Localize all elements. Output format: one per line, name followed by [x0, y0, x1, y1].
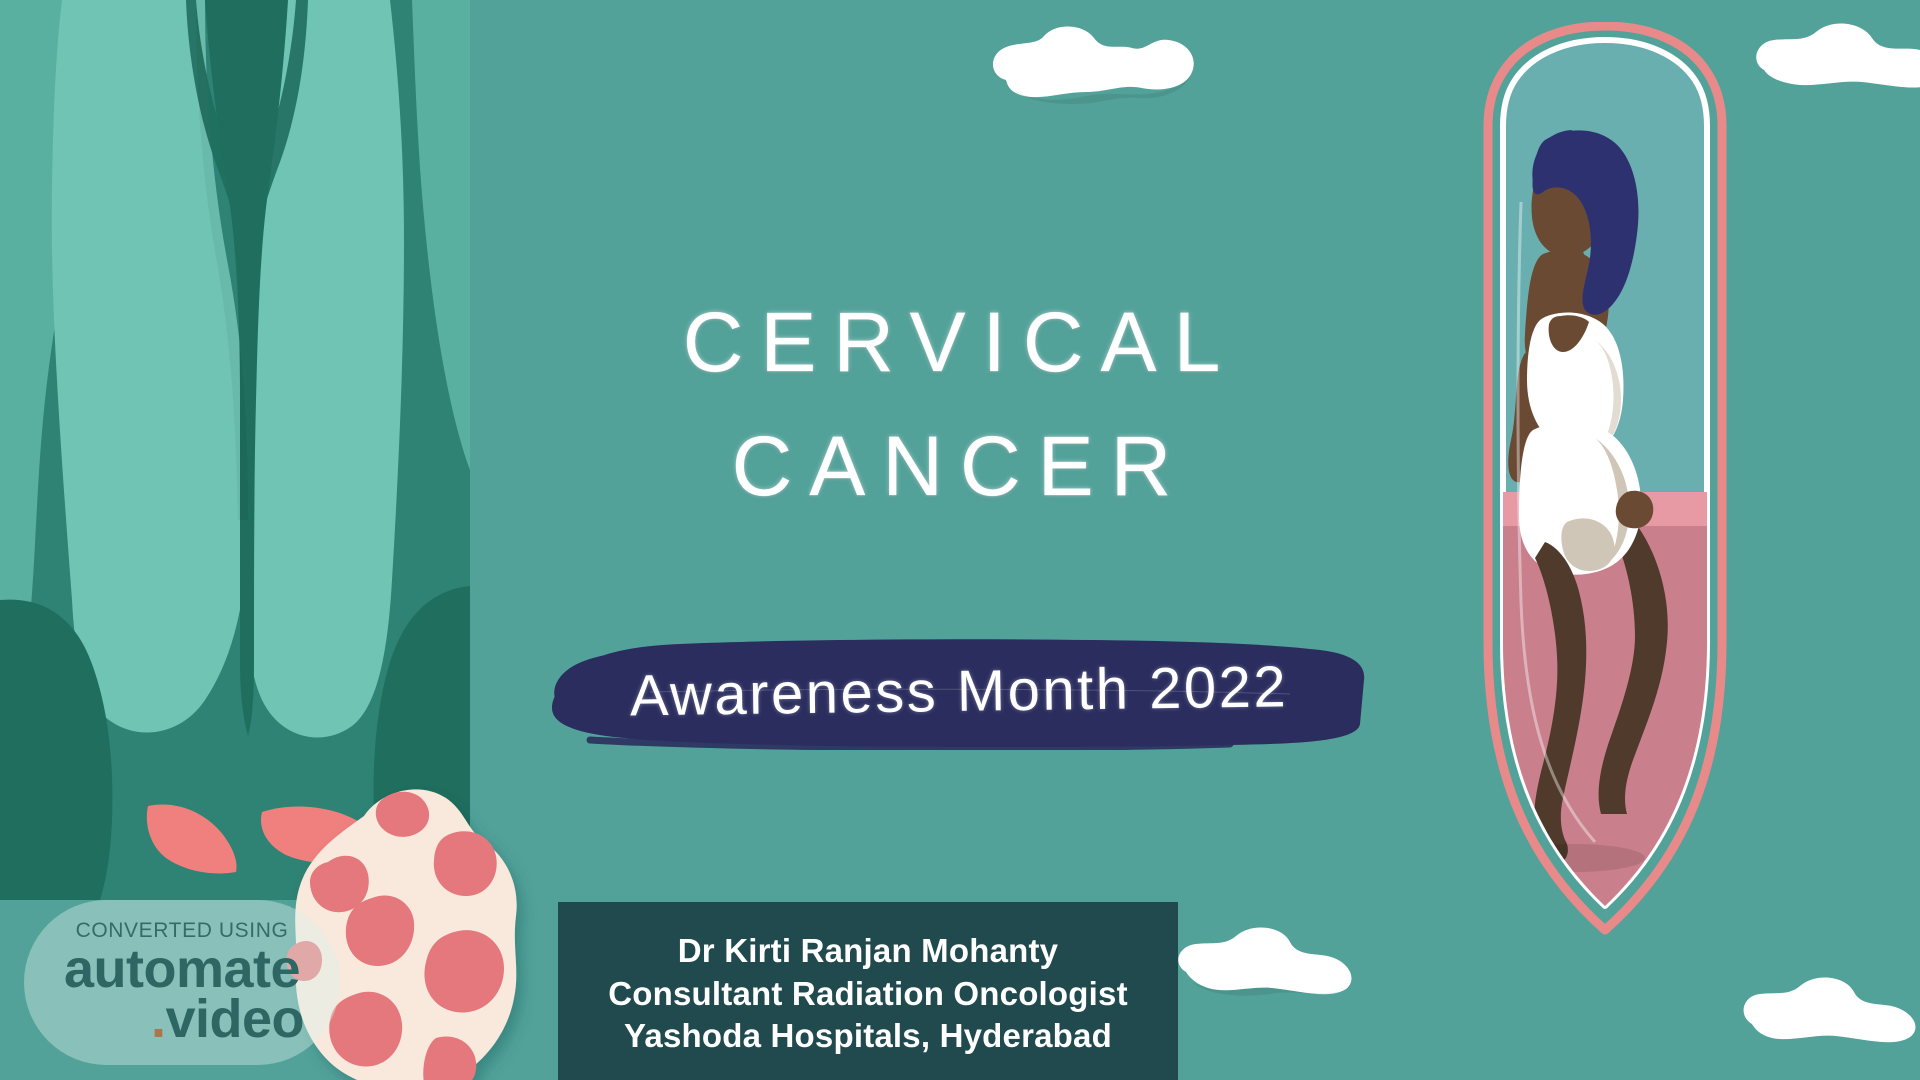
awareness-banner: Awareness Month 2022 [530, 632, 1370, 750]
watermark-domain-row: .video [151, 994, 304, 1045]
shield-emblem [1395, 22, 1815, 1062]
watermark-domain: video [165, 989, 304, 1049]
speaker-name: Dr Kirti Ranjan Mohanty [678, 930, 1058, 973]
awareness-banner-text: Awareness Month 2022 [529, 626, 1371, 756]
speaker-caption-box: Dr Kirti Ranjan Mohanty Consultant Radia… [558, 902, 1178, 1080]
watermark-badge: CONVERTED USING automate .video [24, 900, 340, 1065]
watermark-dot: . [151, 989, 166, 1049]
speaker-affiliation: Yashoda Hospitals, Hyderabad [624, 1015, 1112, 1058]
speaker-role: Consultant Radiation Oncologist [608, 973, 1128, 1016]
poster-canvas: CERVICAL CANCER Awareness Month 2022 Dr … [0, 0, 1920, 1080]
headline-line-2: CANCER [640, 424, 1280, 508]
headline-line-1: CERVICAL [640, 300, 1280, 384]
watermark-brand: automate [64, 944, 300, 994]
cloud-icon [980, 22, 1210, 127]
cloud-icon [1172, 924, 1362, 1015]
cervix-anatomy-illustration [0, 0, 470, 900]
watermark-eyebrow: CONVERTED USING [76, 919, 289, 943]
page-title: CERVICAL CANCER [640, 300, 1280, 508]
